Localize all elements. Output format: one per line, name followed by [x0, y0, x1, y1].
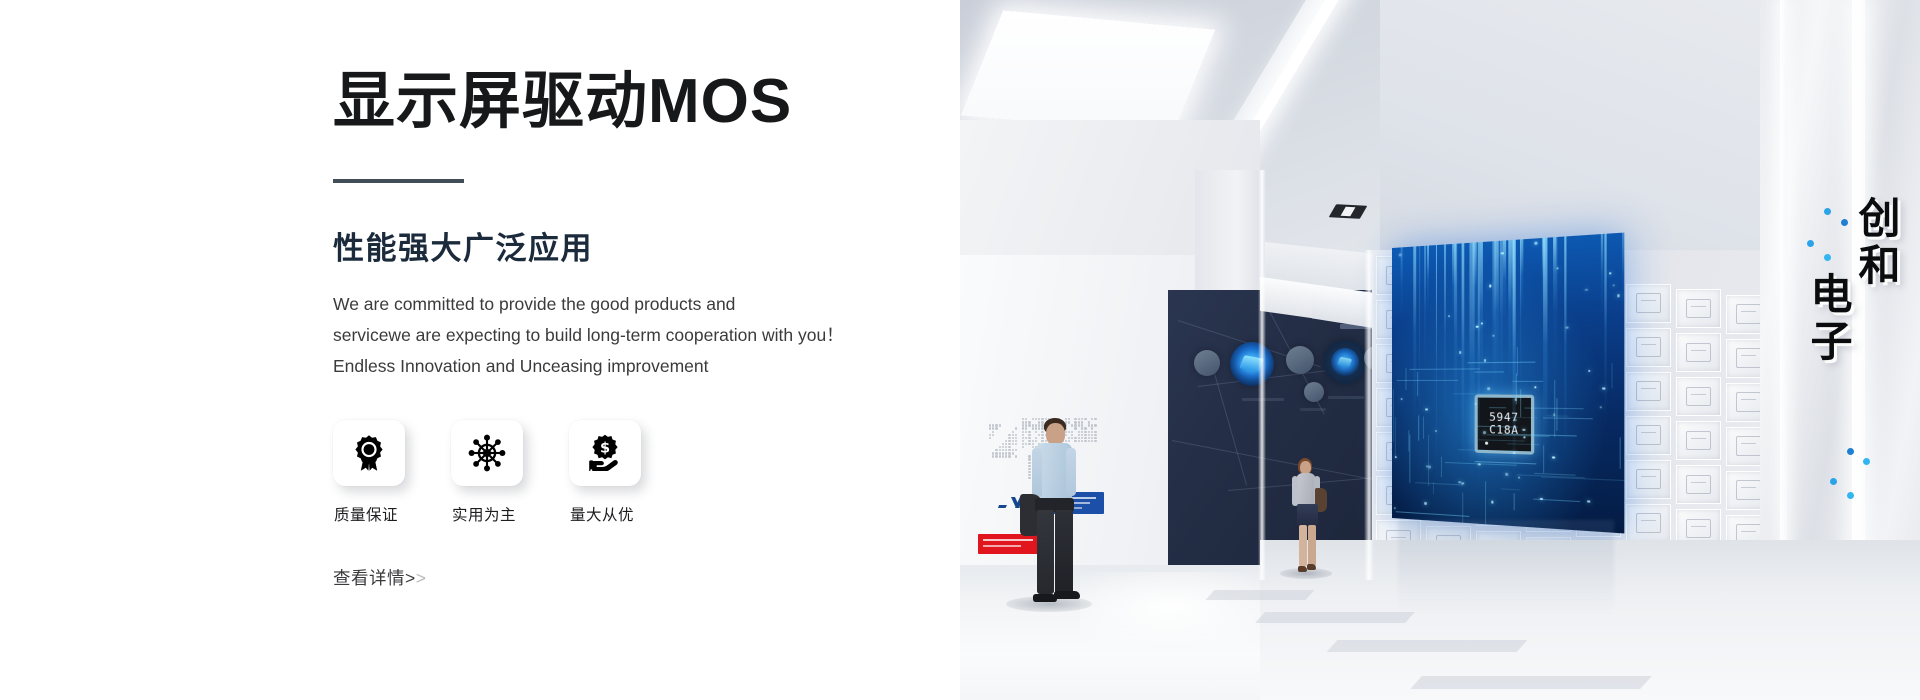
relief-panel-cell	[1626, 328, 1671, 367]
relief-panel-cell	[1676, 333, 1721, 372]
relief-panel-cell	[1676, 465, 1721, 504]
relief-panel-cell	[1626, 504, 1671, 543]
relief-panel-cell	[1676, 421, 1721, 460]
hero-banner: 显示屏驱动MOS 性能强大广泛应用 We are committed to pr…	[0, 0, 1920, 700]
chip-graphic: 5947 C18A	[1474, 394, 1534, 454]
pillar-highlight	[1258, 170, 1266, 580]
chevron-right-icon: >	[416, 568, 427, 588]
feature-item-practical[interactable]: 实用为主	[451, 420, 569, 525]
award-medal-icon	[351, 434, 387, 472]
feature-item-bulk-discount[interactable]: $ 量大从优	[569, 420, 687, 525]
wall-medallion-chip	[1331, 348, 1359, 376]
feature-label: 实用为主	[452, 503, 569, 525]
relief-panel-cell	[1626, 416, 1671, 455]
relief-panel-cell	[1626, 460, 1671, 499]
view-details-label: 查看详情>	[333, 568, 416, 588]
hexagon-molecule-icon	[1808, 212, 1848, 258]
wall-medallion	[1194, 350, 1220, 376]
feature-icon-tile: $	[569, 420, 641, 486]
feature-label: 质量保证	[334, 503, 451, 525]
floor-tile-line	[1205, 590, 1314, 600]
person-businessman	[1014, 418, 1096, 608]
feature-item-quality[interactable]: 质量保证	[333, 420, 451, 525]
led-video-wall: 5947 C18A	[1392, 233, 1624, 534]
wall-medallion	[1286, 346, 1314, 374]
wall-medallion-chip	[1230, 342, 1274, 386]
relief-panel-cell	[1676, 377, 1721, 416]
text-content-column: 显示屏驱动MOS 性能强大广泛应用 We are committed to pr…	[333, 0, 933, 590]
showroom-photograph: 5947 C18A 创和 电子	[960, 0, 1920, 700]
wall-sign-column-left: 电子	[1798, 272, 1859, 366]
feature-icon-tile	[333, 420, 405, 486]
title-divider	[333, 179, 464, 183]
pillar-highlight	[1364, 250, 1374, 580]
person-businesswoman	[1284, 458, 1330, 576]
description-line-2: servicewe are expecting to build long-te…	[333, 320, 933, 351]
svg-text:$: $	[600, 441, 610, 457]
led-wall-floor-reflection	[1398, 520, 1614, 615]
hexagon-molecule-icon	[1832, 452, 1870, 496]
floor-tile-line	[1410, 676, 1652, 689]
feature-list: 质量保证	[333, 420, 933, 525]
floor-tile-line	[1327, 640, 1528, 652]
feature-label: 量大从优	[570, 503, 687, 525]
description-line-1: We are committed to provide the good pro…	[333, 289, 933, 320]
page-title: 显示屏驱动MOS	[333, 64, 933, 140]
floor-light-reflection	[1080, 572, 1260, 642]
view-details-link[interactable]: 查看详情>>	[333, 565, 426, 590]
floor-tile-line	[1255, 612, 1415, 623]
relief-panel-cell	[1626, 284, 1671, 323]
feature-icon-tile	[451, 420, 523, 486]
description-line-3: Endless Innovation and Unceasing improve…	[333, 351, 933, 382]
sub-title: 性能强大广泛应用	[333, 223, 933, 268]
left-text-panel: 显示屏驱动MOS 性能强大广泛应用 We are committed to pr…	[0, 0, 960, 700]
skylight-panel	[961, 10, 1216, 134]
hand-money-icon: $	[586, 434, 624, 471]
wall-medallion	[1304, 382, 1324, 402]
network-hub-icon	[468, 434, 506, 472]
description-paragraph: We are committed to provide the good pro…	[333, 289, 933, 382]
relief-panel-cell	[1626, 372, 1671, 411]
relief-panel-cell	[1676, 289, 1721, 328]
